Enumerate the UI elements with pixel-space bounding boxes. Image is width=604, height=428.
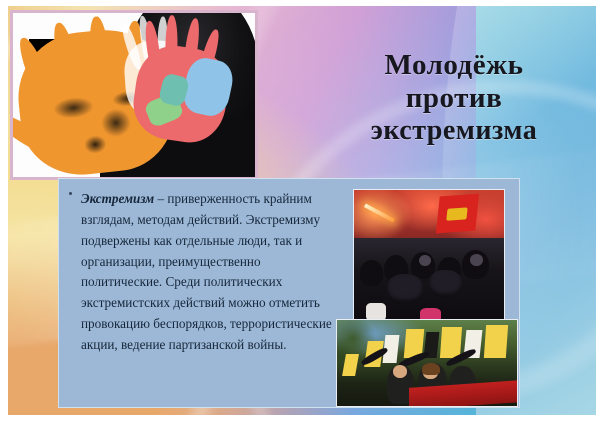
crowd-face-highlight: [470, 254, 484, 266]
finger: [165, 15, 178, 79]
definition-paragraph: Экстремизм – приверженность крайним взгл…: [81, 189, 343, 356]
definition-body: – приверженность крайним взглядам, метод…: [81, 191, 332, 352]
bullet-point-icon: [69, 192, 72, 195]
crowd-head: [360, 260, 383, 286]
finger: [86, 16, 117, 122]
finger: [49, 21, 91, 123]
presentation-slide: Молодёжь против экстремизма Экстремизм –…: [8, 6, 596, 415]
thumb: [10, 109, 62, 161]
protest-crowd-photo: [353, 189, 505, 324]
title-line-1: Молодёжь: [385, 50, 524, 81]
red-flag: [436, 194, 479, 234]
handprints-photo: [10, 10, 258, 180]
masked-face: [387, 274, 423, 303]
crowd-silhouette: [354, 238, 504, 323]
flag-rally-photo: [336, 319, 518, 407]
yellow-flag: [483, 325, 507, 358]
participant-hair: [422, 363, 440, 375]
title-line-3: экстремизма: [371, 116, 538, 146]
crowd-face-highlight: [419, 255, 431, 266]
slide-title: Молодёжь против экстремизма: [308, 18, 596, 178]
masked-face: [429, 270, 462, 297]
participant-face: [393, 365, 407, 378]
definition-term: Экстремизм: [81, 191, 154, 206]
title-line-2: против: [406, 83, 503, 114]
yellow-flag: [440, 327, 462, 358]
